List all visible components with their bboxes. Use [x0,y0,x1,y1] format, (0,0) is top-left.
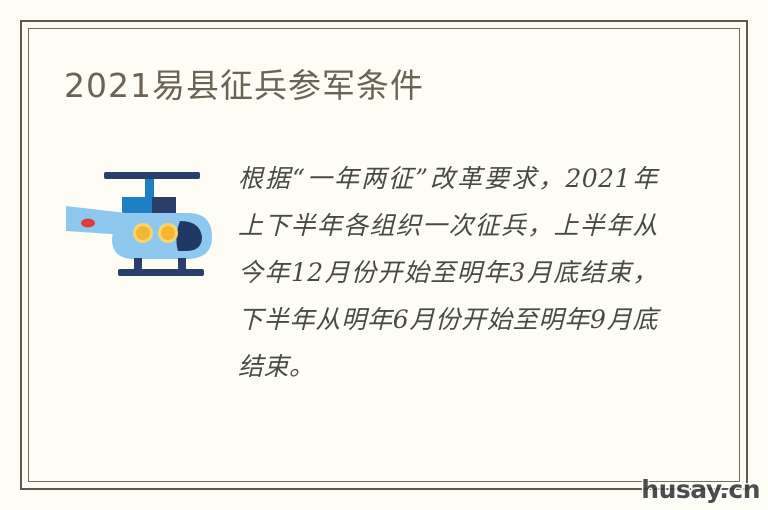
helicopter-illustration [60,161,220,281]
landing-strut-right-icon [178,258,186,270]
page-title: 2021易县征兵参军条件 [64,64,684,108]
article-body: 根据“一年两征”改革要求，2021年上下半年各组织一次征兵，上半年从今年12月份… [60,155,698,390]
passenger-window-2-inner-icon [161,226,175,240]
landing-strut-left-icon [134,258,142,270]
rotor-blade-icon [104,172,200,179]
article-paragraph: 根据“一年两征”改革要求，2021年上下半年各组织一次征兵，上半年从今年12月份… [238,155,658,390]
site-watermark: husay.cn [641,475,760,504]
landing-skid-icon [118,269,204,276]
article-page: 2021易县征兵参军条件 [0,0,768,510]
tail-light-icon [81,219,95,228]
engine-housing-left-icon [122,197,152,215]
passenger-window-1-inner-icon [136,226,150,240]
rotor-mast-icon [145,179,154,199]
engine-housing-right-icon [152,197,176,215]
